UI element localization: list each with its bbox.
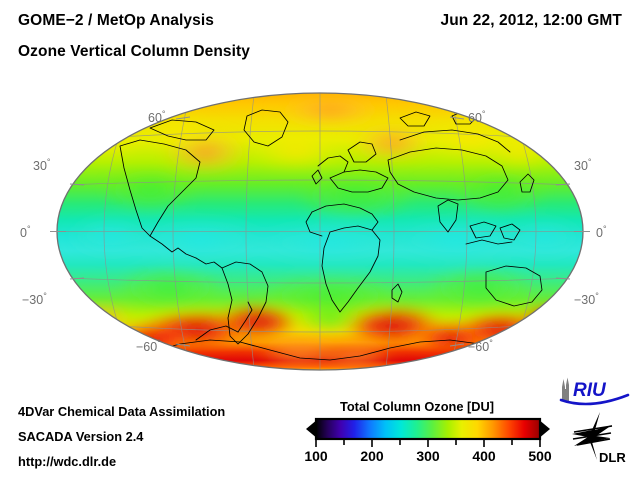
lat-label-north-30-right: 30° bbox=[574, 157, 592, 173]
footer-line-assimilation: 4DVar Chemical Data Assimilation bbox=[18, 404, 225, 419]
lat-label-north-30-left: 30° bbox=[33, 157, 51, 173]
lat-label-north-60-left: 60° bbox=[148, 109, 166, 125]
lat-label-equator-left: 0° bbox=[20, 224, 31, 240]
ozone-map bbox=[0, 0, 640, 400]
lat-label-south-60-left: −60° bbox=[136, 338, 161, 354]
ozone-field bbox=[57, 93, 585, 370]
lat-label-south-60-right: −60° bbox=[468, 338, 493, 354]
lat-label-south-30-left: −30° bbox=[22, 291, 47, 307]
footer-line-version: SACADA Version 2.4 bbox=[18, 429, 143, 444]
dlr-logo: DLR bbox=[566, 412, 632, 464]
ozone-map-page: GOME−2 / MetOp Analysis Ozone Vertical C… bbox=[0, 0, 640, 480]
riu-wordmark: RIU bbox=[573, 380, 607, 401]
colorbar-label-200: 200 bbox=[360, 448, 383, 464]
colorbar-title: Total Column Ozone [DU] bbox=[340, 399, 494, 414]
footer-line-url: http://wdc.dlr.de bbox=[18, 454, 116, 469]
colorbar-label-500: 500 bbox=[528, 448, 551, 464]
riu-logo: RIU bbox=[556, 377, 634, 409]
colorbar-label-400: 400 bbox=[472, 448, 495, 464]
colorbar-label-100: 100 bbox=[304, 448, 327, 464]
riu-tower-icon bbox=[562, 378, 569, 402]
colorbar bbox=[306, 416, 550, 448]
colorbar-label-300: 300 bbox=[416, 448, 439, 464]
lat-label-equator-right: 0° bbox=[596, 224, 607, 240]
lat-label-south-30-right: −30° bbox=[574, 291, 599, 307]
colorbar-ticks bbox=[316, 440, 540, 447]
lat-label-north-60-right: 60° bbox=[468, 109, 486, 125]
dlr-wordmark: DLR bbox=[599, 450, 626, 464]
